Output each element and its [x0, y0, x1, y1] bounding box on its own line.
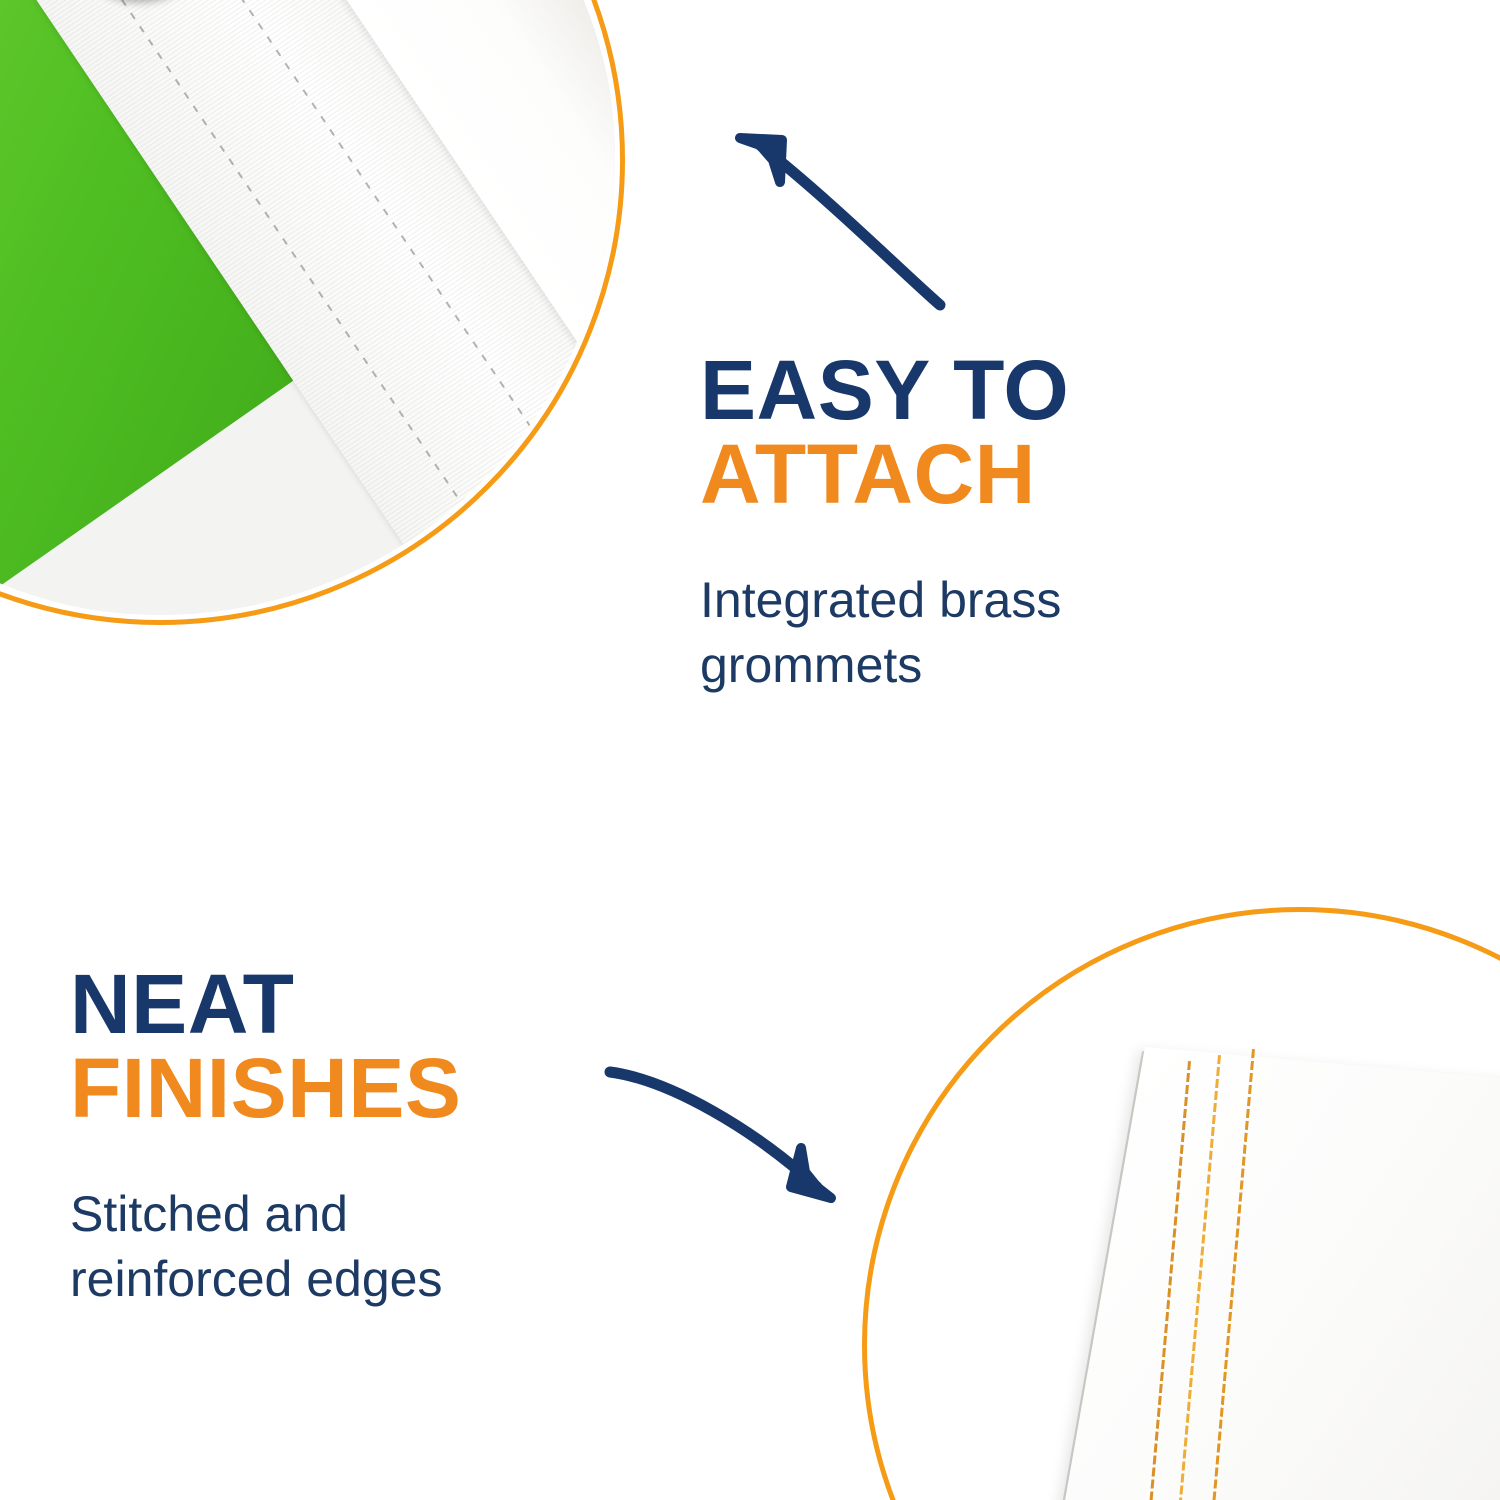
- feature-text-easy-to-attach: EASY TO ATTACH Integrated brass grommets: [700, 348, 1260, 698]
- curved-arrow-up-left-icon: [700, 100, 1000, 340]
- feature-heading-line-1: NEAT: [70, 962, 630, 1046]
- stitched-reinforced-fabric-edge-image: [870, 915, 1500, 1500]
- feature-description-line-1: Integrated brass: [700, 572, 1061, 628]
- curved-arrow-down-right-icon: [595, 1050, 855, 1220]
- feature-text-neat-finishes: NEAT FINISHES Stitched and reinforced ed…: [70, 962, 630, 1312]
- grommet-photo-mat: [0, 0, 615, 615]
- feature-heading-line-2: FINISHES: [70, 1046, 630, 1130]
- feature-description-line-2: reinforced edges: [70, 1251, 442, 1307]
- fabric-sheet: [1009, 1047, 1500, 1500]
- feature-description: Stitched and reinforced edges: [70, 1182, 630, 1312]
- feature-description-line-1: Stitched and: [70, 1186, 348, 1242]
- feature-description: Integrated brass grommets: [700, 568, 1260, 698]
- feature-heading-line-1: EASY TO: [700, 348, 1260, 432]
- grommet-photo-circle: [0, 0, 625, 625]
- flag-header-with-brass-grommets-image: [0, 0, 615, 615]
- infographic-canvas: EASY TO ATTACH Integrated brass grommets…: [0, 0, 1500, 1500]
- feature-description-line-2: grommets: [700, 637, 922, 693]
- feature-heading-line-2: ATTACH: [700, 432, 1260, 516]
